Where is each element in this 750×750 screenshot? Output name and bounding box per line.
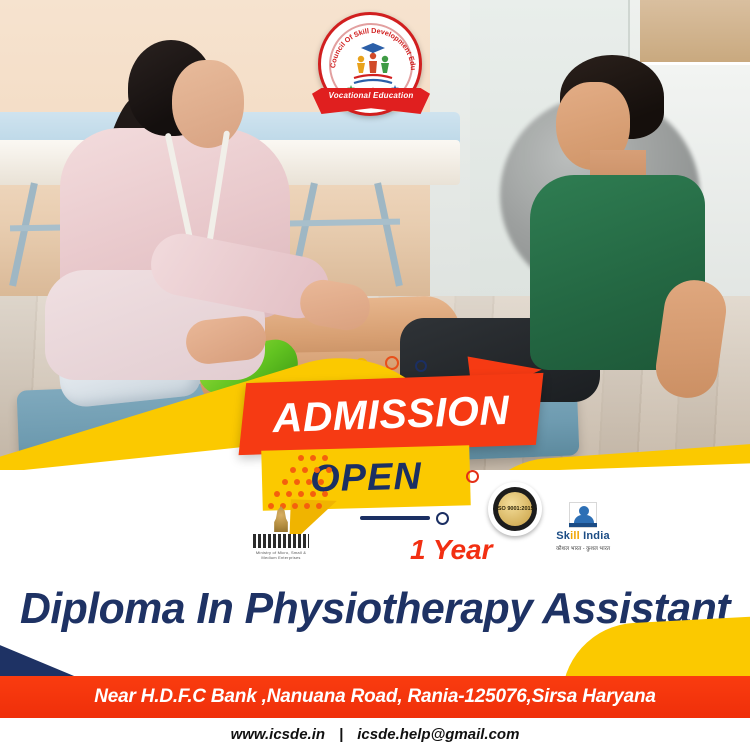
navy-ring-accent bbox=[436, 512, 449, 525]
promotional-poster: ADMISSION OPEN Indian Council Of Skill D… bbox=[0, 0, 750, 750]
footer-contact-bar: www.icsde.in | icsde.help@gmail.com bbox=[0, 718, 750, 750]
ashoka-emblem-icon bbox=[272, 506, 290, 532]
admission-label: ADMISSION bbox=[242, 373, 540, 455]
msme-subtitle: Ministry of Micro, Small & Medium Enterp… bbox=[250, 550, 312, 560]
address-bar: Near H.D.F.C Bank ,Nanuana Road, Rania-1… bbox=[0, 676, 750, 718]
msme-wordmark-icon bbox=[253, 534, 309, 548]
iso-label: ISO 9001:2015 bbox=[496, 506, 533, 512]
decorative-ring-navy bbox=[415, 360, 427, 372]
footer-separator: | bbox=[339, 726, 343, 743]
therapist-face bbox=[172, 60, 244, 148]
navy-divider-line bbox=[360, 516, 430, 520]
skill-india-base-icon bbox=[569, 523, 597, 527]
msme-logo: Ministry of Micro, Small & Medium Enterp… bbox=[250, 506, 312, 562]
seal-ribbon-label: Vocational Education bbox=[328, 88, 413, 100]
course-duration-label: 1 Year bbox=[410, 530, 560, 570]
skill-india-body-icon bbox=[574, 515, 594, 523]
red-ring-accent bbox=[466, 470, 479, 483]
iso-seal-ring-icon: ISO 9001:2015 bbox=[493, 487, 537, 531]
website-link[interactable]: www.icsde.in bbox=[231, 726, 325, 743]
iso-seal-core: ISO 9001:2015 bbox=[498, 492, 532, 526]
address-text: Near H.D.F.C Bank ,Nanuana Road, Rania-1… bbox=[94, 686, 656, 708]
iso-seal-logo: ISO 9001:2015 bbox=[488, 482, 542, 536]
cabinet-top-shelf bbox=[640, 0, 750, 62]
email-link[interactable]: icsde.help@gmail.com bbox=[357, 726, 519, 743]
